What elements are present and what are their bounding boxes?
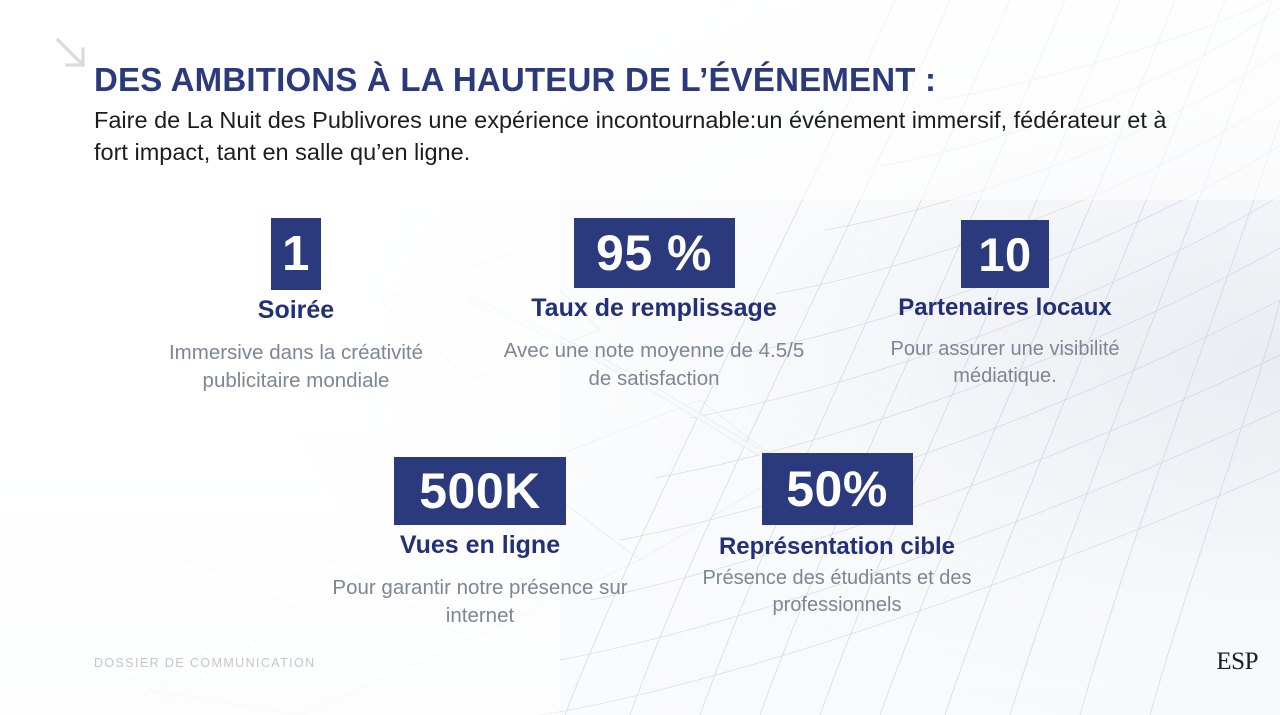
stat-value-badge: 10 [961,220,1049,288]
brand-logo-esp: ESP [1216,648,1258,676]
stat-label: Vues en ligne [320,531,640,560]
stat-description: Pour garantir notre présence sur interne… [320,574,640,630]
stat-label: Taux de remplissage [492,294,816,323]
stat-value-badge: 95 % [574,218,735,288]
arrow-down-right-icon [52,34,92,74]
stat-value-badge: 50% [762,453,913,525]
stat-label: Représentation cible [677,533,997,561]
heading-block: DES AMBITIONS À LA HAUTEUR DE L’ÉVÉNEMEN… [94,62,1204,169]
stat-description: Immersive dans la créativité publicitair… [136,339,456,395]
stat-block-representation-cible: 50% Représentation cible Présence des ét… [677,453,997,619]
stat-description: Avec une note moyenne de 4.5/5 de satisf… [492,337,816,393]
stat-value-badge: 1 [271,218,321,290]
page-subtitle: Faire de La Nuit des Publivores une expé… [94,105,1186,169]
stat-block-vues-en-ligne: 500K Vues en ligne Pour garantir notre p… [320,457,640,630]
stat-value-badge: 500K [394,457,566,525]
footer-note: DOSSIER DE COMMUNICATION [94,656,316,670]
stat-label: Soirée [136,296,456,325]
page-title: DES AMBITIONS À LA HAUTEUR DE L’ÉVÉNEMEN… [94,62,1204,99]
presentation-slide: DES AMBITIONS À LA HAUTEUR DE L’ÉVÉNEMEN… [0,0,1280,715]
stat-block-taux-de-remplissage: 95 % Taux de remplissage Avec une note m… [492,218,816,393]
stat-label: Partenaires locaux [843,294,1167,322]
stat-description: Présence des étudiants et des profession… [677,565,997,619]
stat-block-partenaires-locaux: 10 Partenaires locaux Pour assurer une v… [843,220,1167,390]
stat-block-soiree: 1 Soirée Immersive dans la créativité pu… [136,218,456,395]
stat-description: Pour assurer une visibilité médiatique. [843,336,1167,390]
